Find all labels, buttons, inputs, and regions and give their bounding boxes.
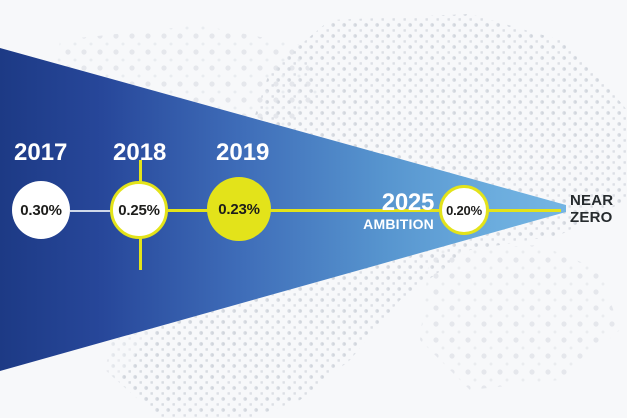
ambition-year-text: 2025 (346, 191, 434, 215)
node-2019[interactable]: 0.23% (207, 177, 271, 241)
node-2025-value: 0.20% (446, 203, 482, 218)
year-label-2017: 2017 (14, 139, 67, 167)
year-label-2018: 2018 (113, 139, 166, 167)
node-2018-value: 0.25% (118, 202, 160, 219)
node-2017[interactable]: 0.30% (12, 181, 70, 239)
connector-2025-nearzero (489, 209, 561, 212)
node-2019-value: 0.23% (218, 201, 260, 218)
connector-2018-2019 (165, 209, 210, 212)
near-zero-line-1: NEAR (570, 192, 613, 209)
ambition-label-2025: 2025 AMBITION (346, 191, 434, 231)
node-2025[interactable]: 0.20% (439, 185, 489, 235)
year-label-2019: 2019 (216, 139, 269, 167)
near-zero-label: NEAR ZERO (570, 192, 613, 227)
infographic-canvas: 0.30% 0.25% 0.23% 0.20% 2017 2018 2019 2… (0, 0, 627, 418)
node-2018[interactable]: 0.25% (110, 181, 168, 239)
node-2017-value: 0.30% (20, 202, 62, 219)
ambition-word-text: AMBITION (346, 217, 434, 231)
near-zero-line-2: ZERO (570, 209, 612, 226)
